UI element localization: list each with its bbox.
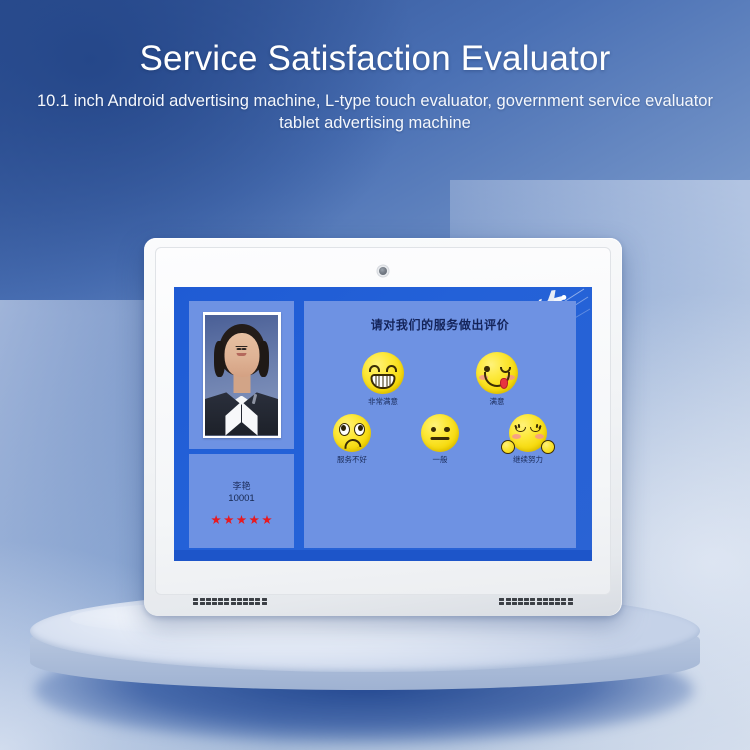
portrait-hair-right <box>258 341 269 377</box>
star-icon: ★ <box>236 514 247 527</box>
face-eye-left <box>369 365 380 372</box>
neutral-face-icon[interactable] <box>421 414 459 452</box>
staff-photo-card <box>189 301 294 449</box>
star-icon: ★ <box>223 514 234 527</box>
face-eye-right <box>444 427 450 433</box>
sad-face-icon[interactable] <box>333 414 371 452</box>
star-icon: ★ <box>261 514 272 527</box>
staff-rating-stars: ★ ★ ★ ★ ★ <box>210 514 272 527</box>
speaker-grille-right <box>498 597 574 606</box>
speaker-grille-left <box>192 597 268 606</box>
survey-panel: 请对我们的服务做出评价 非常满意 <box>304 301 576 548</box>
face-fist-left <box>501 440 515 454</box>
staff-id-photo <box>205 315 278 436</box>
survey-heading: 请对我们的服务做出评价 <box>371 316 510 333</box>
header: Service Satisfaction Evaluator 10.1 inch… <box>0 38 750 135</box>
survey-option-label: 继续努力 <box>513 456 543 464</box>
survey-options-row-bottom: 服务不好 一般 <box>304 414 576 464</box>
staff-info-panel: 李艳 10001 ★ ★ ★ ★ ★ <box>189 301 294 548</box>
survey-options-row-top: 非常满意 满意 <box>304 352 576 406</box>
portrait-hair-left <box>214 341 225 377</box>
portrait-mouth <box>237 353 247 356</box>
tablet-device: 李艳 10001 ★ ★ ★ ★ ★ 请对我们的服务做出评价 <box>144 238 622 616</box>
survey-option-average[interactable]: 一般 <box>409 414 471 464</box>
survey-option-label: 服务不好 <box>337 456 367 464</box>
fists-up-face-icon[interactable] <box>509 414 547 452</box>
portrait-eye-right <box>242 348 247 351</box>
star-icon: ★ <box>210 514 221 527</box>
screen-bottom-strip <box>174 550 592 561</box>
page-subtitle: 10.1 inch Android advertising machine, L… <box>25 91 725 135</box>
face-fist-right <box>541 440 555 454</box>
star-icon: ★ <box>249 514 260 527</box>
survey-option-bad-service[interactable]: 服务不好 <box>321 414 383 464</box>
survey-option-keep-improving[interactable]: 继续努力 <box>497 414 559 464</box>
page-title: Service Satisfaction Evaluator <box>0 38 750 79</box>
survey-option-label: 一般 <box>433 456 448 464</box>
face-mouth-flat <box>431 437 450 440</box>
photo-frame <box>203 312 281 438</box>
survey-option-label: 满意 <box>490 398 505 406</box>
survey-option-label: 非常满意 <box>368 398 398 406</box>
face-tongue <box>500 378 508 389</box>
staff-id-number: 10001 <box>228 494 254 504</box>
staff-detail-card: 李艳 10001 ★ ★ ★ ★ ★ <box>189 454 294 548</box>
survey-option-satisfied[interactable]: 满意 <box>466 352 528 406</box>
face-base <box>421 414 459 452</box>
portrait-eye-left <box>236 348 241 351</box>
winking-tongue-face-icon[interactable] <box>476 352 518 394</box>
front-camera-icon <box>379 267 387 275</box>
face-eye-right <box>386 365 397 372</box>
grinning-face-icon[interactable] <box>362 352 404 394</box>
survey-option-very-satisfied[interactable]: 非常满意 <box>352 352 414 406</box>
tablet-screen[interactable]: 李艳 10001 ★ ★ ★ ★ ★ 请对我们的服务做出评价 <box>174 287 592 561</box>
portrait-face <box>224 333 259 377</box>
staff-name: 李艳 <box>232 482 250 492</box>
